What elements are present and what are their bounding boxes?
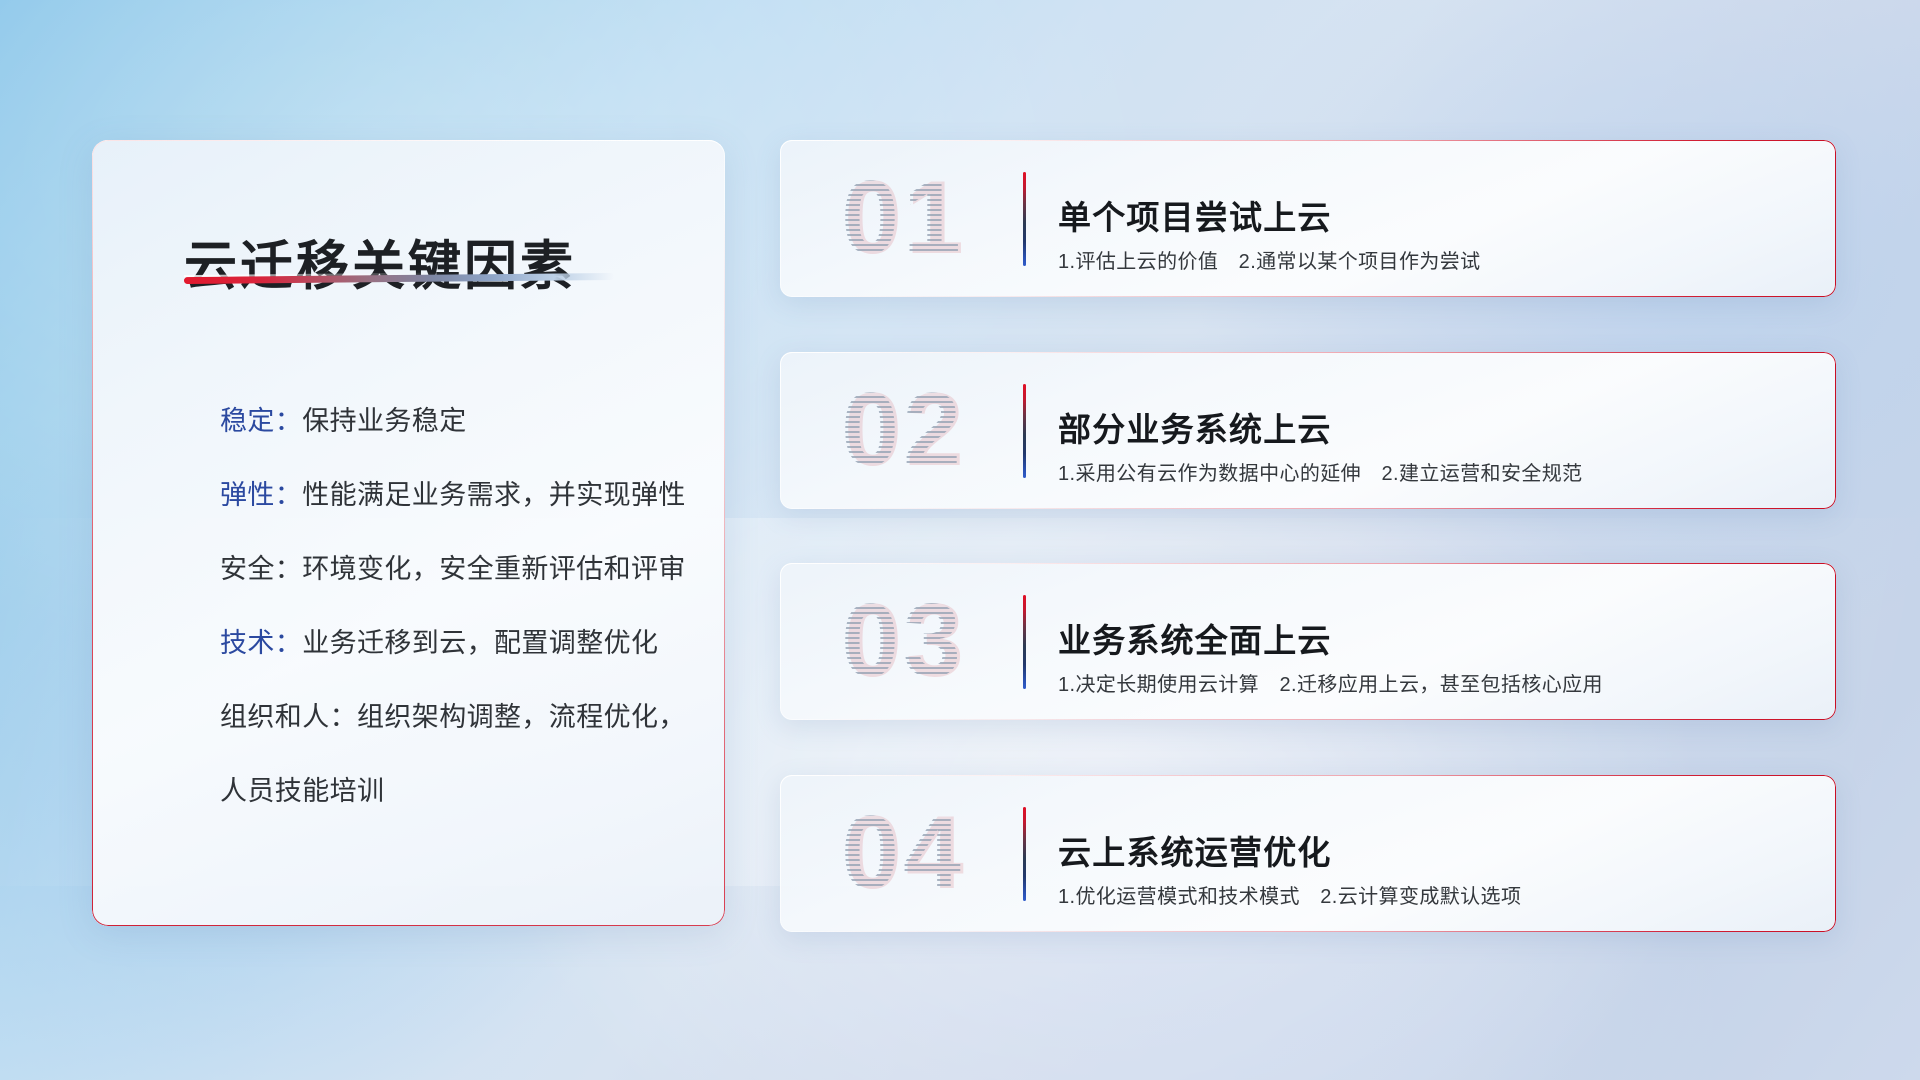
factor-text: 业务迁移到云，配置调整优化 <box>302 628 658 658</box>
step-description: 1.采用公有云作为数据中心的延伸 2.建立运营和安全规范 <box>1058 457 1583 486</box>
factor-text: 组织架构调整，流程优化， <box>357 702 686 732</box>
step-divider-bar <box>1023 807 1026 901</box>
page-title: 云迁移关键因素 <box>184 224 576 300</box>
step-number: 03 <box>808 577 998 705</box>
list-item: 组织和人：组织架构调整，流程优化， <box>220 680 690 754</box>
step-title: 部分业务系统上云 <box>1058 403 1332 451</box>
factor-text: 环境变化，安全重新评估和评审 <box>302 554 686 584</box>
factor-label: 组织和人： <box>220 702 357 732</box>
step-number: 01 <box>808 154 998 282</box>
step-title: 业务系统全面上云 <box>1058 614 1332 662</box>
step-divider-bar <box>1023 172 1026 266</box>
factor-text: 人员技能培训 <box>220 776 384 806</box>
list-item: 技术：业务迁移到云，配置调整优化 <box>220 606 690 680</box>
list-item: 弹性：性能满足业务需求，并实现弹性 <box>220 458 690 532</box>
slide-canvas: 云迁移关键因素 稳定：保持业务稳定 弹性：性能满足业务需求，并实现弹性 安全：环… <box>0 0 1920 1080</box>
step-card[interactable]: 04 04 云上系统运营优化 1.优化运营模式和技术模式 2.云计算变成默认选项 <box>780 775 1836 932</box>
step-description: 1.决定长期使用云计算 2.迁移应用上云，甚至包括核心应用 <box>1058 668 1603 697</box>
factor-text: 性能满足业务需求，并实现弹性 <box>302 480 686 510</box>
step-card[interactable]: 03 03 业务系统全面上云 1.决定长期使用云计算 2.迁移应用上云，甚至包括… <box>780 563 1836 720</box>
list-item: 稳定：保持业务稳定 <box>220 384 690 458</box>
factor-list: 稳定：保持业务稳定 弹性：性能满足业务需求，并实现弹性 安全：环境变化，安全重新… <box>220 384 690 828</box>
step-title: 云上系统运营优化 <box>1058 826 1332 874</box>
step-card[interactable]: 02 02 部分业务系统上云 1.采用公有云作为数据中心的延伸 2.建立运营和安… <box>780 352 1836 509</box>
factor-text: 保持业务稳定 <box>302 406 466 436</box>
step-description: 1.优化运营模式和技术模式 2.云计算变成默认选项 <box>1058 880 1521 909</box>
step-number: 02 <box>808 366 998 494</box>
factor-label: 技术： <box>220 628 302 658</box>
list-item: 人员技能培训 <box>220 754 690 828</box>
step-card[interactable]: 01 01 单个项目尝试上云 1.评估上云的价值 2.通常以某个项目作为尝试 <box>780 140 1836 297</box>
key-factors-panel: 云迁移关键因素 稳定：保持业务稳定 弹性：性能满足业务需求，并实现弹性 安全：环… <box>92 140 725 926</box>
factor-label: 安全： <box>220 554 302 584</box>
step-divider-bar <box>1023 595 1026 689</box>
list-item: 安全：环境变化，安全重新评估和评审 <box>220 532 690 606</box>
step-number: 04 <box>808 789 998 917</box>
step-description: 1.评估上云的价值 2.通常以某个项目作为尝试 <box>1058 245 1481 274</box>
factor-label: 稳定： <box>220 406 302 436</box>
step-title: 单个项目尝试上云 <box>1058 191 1332 239</box>
step-divider-bar <box>1023 384 1026 478</box>
factor-label: 弹性： <box>220 480 302 510</box>
